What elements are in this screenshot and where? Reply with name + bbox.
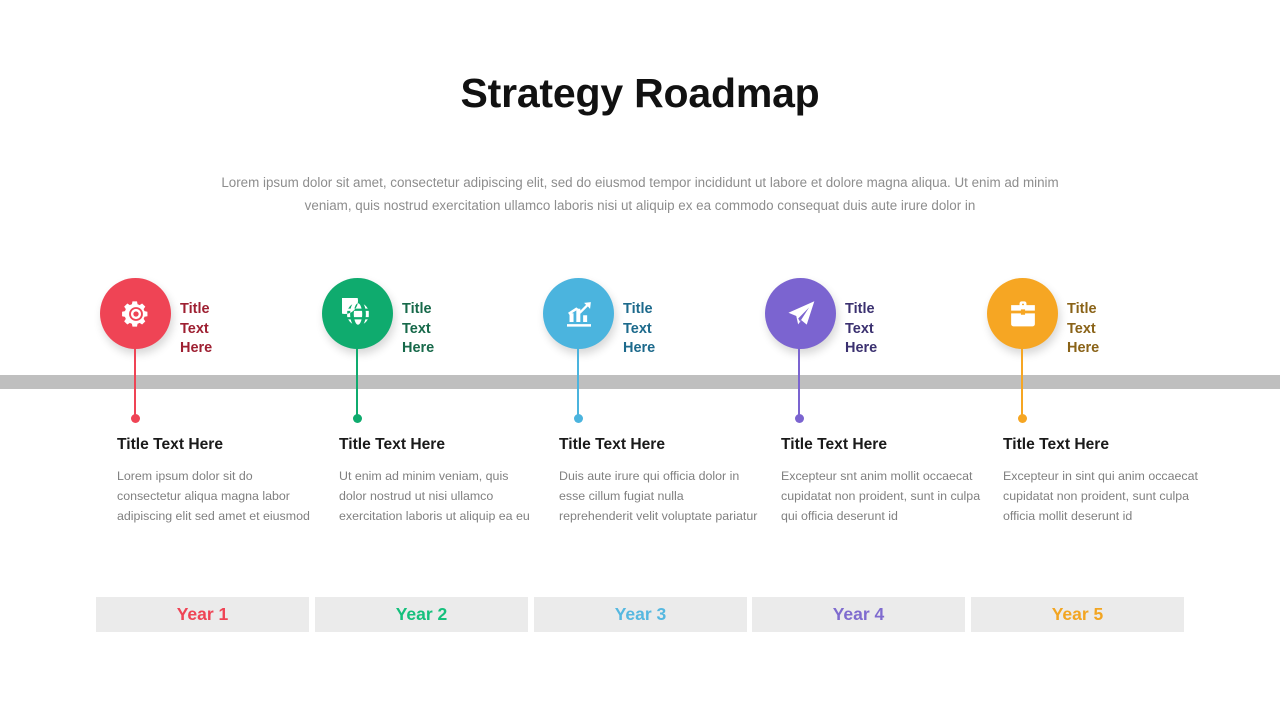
bar-chart-icon bbox=[563, 298, 595, 330]
milestone-body-title-3: Title Text Here bbox=[559, 434, 759, 455]
globe-icon bbox=[342, 298, 374, 330]
briefcase-icon bbox=[1007, 298, 1039, 330]
year-box-1[interactable]: Year 1 bbox=[96, 597, 309, 632]
paper-plane-icon bbox=[785, 298, 817, 330]
year-box-5[interactable]: Year 5 bbox=[971, 597, 1184, 632]
milestone-circle-5[interactable] bbox=[987, 278, 1058, 349]
milestone-connector-dot-1 bbox=[131, 414, 140, 423]
year-label-3: Year 3 bbox=[615, 604, 667, 625]
milestone-pin-label-1: Title Text Here bbox=[180, 300, 212, 359]
page-title: Strategy Roadmap bbox=[0, 69, 1280, 118]
milestone-body-title-2: Title Text Here bbox=[339, 434, 539, 455]
milestone-body-text-4: Excepteur snt anim mollit occaecat cupid… bbox=[781, 466, 981, 526]
year-label-1: Year 1 bbox=[177, 604, 229, 625]
year-label-2: Year 2 bbox=[396, 604, 448, 625]
milestone-connector-dot-3 bbox=[574, 414, 583, 423]
milestone-connector-dot-5 bbox=[1018, 414, 1027, 423]
milestone-body-2: Title Text HereUt enim ad minim veniam, … bbox=[339, 434, 539, 526]
milestone-connector-dot-4 bbox=[795, 414, 804, 423]
milestone-connector-line-5 bbox=[1021, 340, 1023, 418]
milestone-body-text-2: Ut enim ad minim veniam, quis dolor nost… bbox=[339, 466, 539, 526]
milestone-connector-line-1 bbox=[134, 340, 136, 418]
page-subtitle: Lorem ipsum dolor sit amet, consectetur … bbox=[200, 171, 1080, 217]
milestone-circle-1[interactable] bbox=[100, 278, 171, 349]
milestone-body-text-1: Lorem ipsum dolor sit do consectetur ali… bbox=[117, 466, 317, 526]
milestone-pin-label-4: Title Text Here bbox=[845, 300, 877, 359]
slide-canvas: Strategy Roadmap Lorem ipsum dolor sit a… bbox=[0, 0, 1280, 720]
milestone-body-title-4: Title Text Here bbox=[781, 434, 981, 455]
year-box-2[interactable]: Year 2 bbox=[315, 597, 528, 632]
year-box-4[interactable]: Year 4 bbox=[752, 597, 965, 632]
milestone-circle-2[interactable] bbox=[322, 278, 393, 349]
milestone-body-4: Title Text HereExcepteur snt anim mollit… bbox=[781, 434, 981, 526]
milestone-circle-3[interactable] bbox=[543, 278, 614, 349]
milestone-body-title-5: Title Text Here bbox=[1003, 434, 1203, 455]
milestone-body-1: Title Text HereLorem ipsum dolor sit do … bbox=[117, 434, 317, 526]
timeline-bar bbox=[0, 375, 1280, 389]
milestone-body-text-5: Excepteur in sint qui anim occaecat cupi… bbox=[1003, 466, 1203, 526]
milestone-body-text-3: Duis aute irure qui officia dolor in ess… bbox=[559, 466, 759, 526]
milestone-pin-label-2: Title Text Here bbox=[402, 300, 434, 359]
milestone-connector-line-4 bbox=[798, 340, 800, 418]
milestone-circle-4[interactable] bbox=[765, 278, 836, 349]
gear-icon bbox=[120, 298, 152, 330]
milestone-connector-line-2 bbox=[356, 340, 358, 418]
milestone-pin-label-3: Title Text Here bbox=[623, 300, 655, 359]
milestone-connector-dot-2 bbox=[353, 414, 362, 423]
milestone-body-3: Title Text HereDuis aute irure qui offic… bbox=[559, 434, 759, 526]
milestone-connector-line-3 bbox=[577, 340, 579, 418]
year-label-5: Year 5 bbox=[1052, 604, 1104, 625]
milestone-body-5: Title Text HereExcepteur in sint qui ani… bbox=[1003, 434, 1203, 526]
year-label-4: Year 4 bbox=[833, 604, 885, 625]
milestone-pin-label-5: Title Text Here bbox=[1067, 300, 1099, 359]
milestone-body-title-1: Title Text Here bbox=[117, 434, 317, 455]
year-box-3[interactable]: Year 3 bbox=[534, 597, 747, 632]
